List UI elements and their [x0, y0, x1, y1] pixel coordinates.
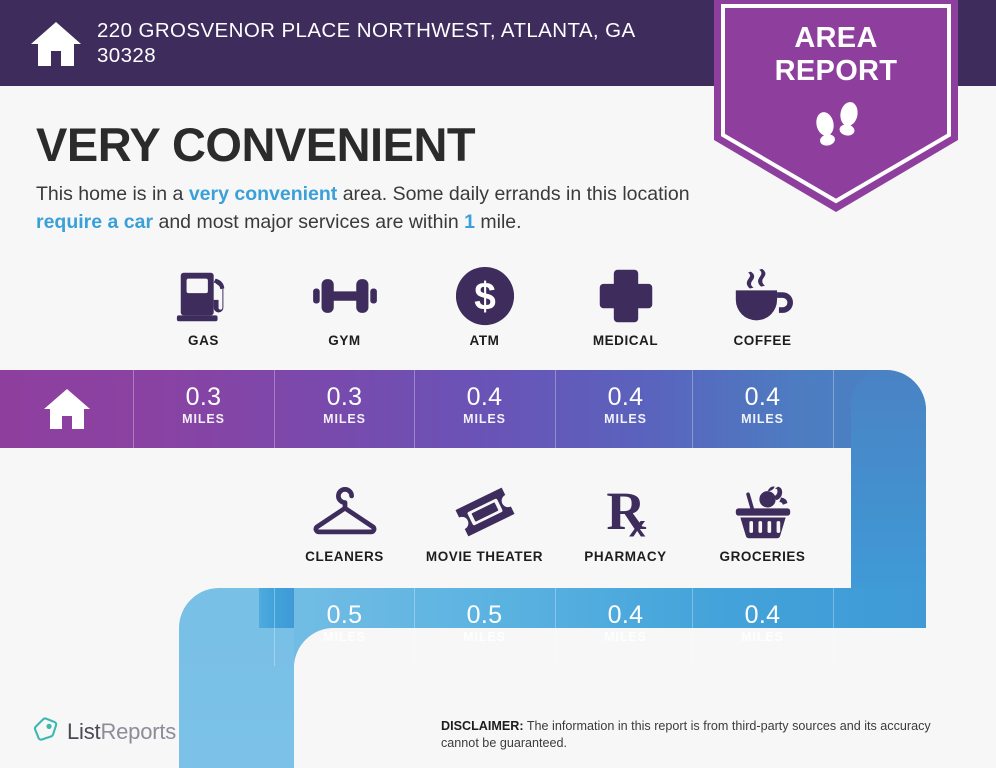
amenity-label: GAS: [133, 333, 274, 348]
logo-text-list: List: [67, 719, 100, 744]
amenity-coffee: COFFEE: [692, 262, 833, 362]
distance-cell-groceries: 0.4 MILES: [692, 588, 833, 666]
listreports-logo[interactable]: ListReports: [33, 716, 176, 747]
disclaimer-label: DISCLAIMER:: [441, 719, 524, 733]
cell-divider: [833, 588, 834, 666]
desc-highlight-2: require a car: [36, 211, 153, 233]
grocery-basket-icon: [692, 478, 833, 546]
badge-title-line2: REPORT: [714, 55, 958, 88]
clothes-hanger-icon: [274, 478, 415, 546]
distance-unit: MILES: [692, 412, 833, 426]
amenity-groceries: GROCERIES: [692, 478, 833, 578]
desc-part3: and most major services are within: [153, 211, 464, 233]
desc-highlight-3: 1: [464, 211, 475, 233]
distance-cell-coffee: 0.4 MILES: [692, 370, 833, 448]
listreports-pin-icon: [33, 716, 59, 747]
badge-title-line1: AREA: [714, 22, 958, 55]
amenity-label: COFFEE: [692, 333, 833, 348]
amenity-atm: $ ATM: [414, 262, 555, 362]
distance-unit: MILES: [414, 630, 555, 644]
distance-value: 0.4: [555, 370, 696, 412]
desc-part2: area. Some daily errands in this locatio…: [337, 183, 689, 205]
desc-highlight-1: very convenient: [189, 183, 337, 205]
distance-value: 0.3: [274, 370, 415, 412]
distance-value: 0.5: [414, 588, 555, 630]
distance-unit: MILES: [555, 630, 696, 644]
desc-part1: This home is in a: [36, 183, 189, 205]
distance-value: 0.4: [692, 370, 833, 412]
area-report-infographic: 220 GROSVENOR PLACE NORTHWEST, ATLANTA, …: [0, 0, 996, 768]
area-report-badge: AREA REPORT: [714, 0, 958, 212]
page-title: VERY CONVENIENT: [36, 117, 475, 172]
desc-part4: mile.: [475, 211, 522, 233]
distance-cell-movie-theater: 0.5 MILES: [414, 588, 555, 666]
amenity-pharmacy: R x PHARMACY: [555, 478, 696, 578]
property-address: 220 GROSVENOR PLACE NORTHWEST, ATLANTA, …: [97, 18, 657, 68]
amenity-icon-row-2: CLEANERS MOVIE THEATER R x: [0, 478, 996, 578]
amenity-label: MOVIE THEATER: [414, 549, 555, 564]
distance-bar-row-2: 0.5 MILES 0.5 MILES 0.4 MILES 0.4 MILES: [0, 588, 996, 666]
description-text: This home is in a very convenient area. …: [36, 180, 708, 236]
distance-value: 0.4: [555, 588, 696, 630]
amenity-cleaners: CLEANERS: [274, 478, 415, 578]
movie-ticket-icon: [414, 478, 555, 546]
distance-cell-gas: 0.3 MILES: [133, 370, 274, 448]
amenity-label: GROCERIES: [692, 549, 833, 564]
amenity-gas: GAS: [133, 262, 274, 362]
logo-text-reports: Reports: [100, 719, 176, 744]
amenity-label: GYM: [274, 333, 415, 348]
gas-pump-icon: [133, 262, 274, 330]
disclaimer: DISCLAIMER: The information in this repo…: [441, 718, 971, 752]
distance-value: 0.4: [414, 370, 555, 412]
distance-cell-atm: 0.4 MILES: [414, 370, 555, 448]
distance-unit: MILES: [274, 630, 415, 644]
amenity-label: CLEANERS: [274, 549, 415, 564]
distance-cell-gym: 0.3 MILES: [274, 370, 415, 448]
medical-cross-icon: [555, 262, 696, 330]
distance-unit: MILES: [133, 412, 274, 426]
svg-text:$: $: [474, 276, 496, 319]
amenity-label: ATM: [414, 333, 555, 348]
distance-bar-row-1: 0.3 MILES 0.3 MILES 0.4 MILES 0.4 MILES …: [0, 370, 996, 448]
badge-title: AREA REPORT: [714, 22, 958, 88]
listreports-wordmark: ListReports: [67, 719, 176, 745]
distance-value: 0.3: [133, 370, 274, 412]
coffee-cup-icon: [692, 262, 833, 330]
dumbbell-icon: [274, 262, 415, 330]
svg-text:x: x: [628, 510, 645, 542]
amenity-medical: MEDICAL: [555, 262, 696, 362]
distance-cell-cleaners: 0.5 MILES: [274, 588, 415, 666]
distance-unit: MILES: [414, 412, 555, 426]
amenity-gym: GYM: [274, 262, 415, 362]
distance-cell-medical: 0.4 MILES: [555, 370, 696, 448]
cell-divider: [833, 370, 834, 448]
home-icon: [30, 20, 82, 68]
distance-cell-pharmacy: 0.4 MILES: [555, 588, 696, 666]
rx-icon: R x: [555, 478, 696, 546]
footprints-icon: [810, 98, 866, 152]
distance-unit: MILES: [274, 412, 415, 426]
dollar-circle-icon: $: [414, 262, 555, 330]
distance-unit: MILES: [555, 412, 696, 426]
home-icon: [0, 370, 133, 448]
amenity-label: MEDICAL: [555, 333, 696, 348]
amenity-movie-theater: MOVIE THEATER: [414, 478, 555, 578]
amenity-icon-row-1: GAS GYM $: [0, 262, 996, 362]
distance-unit: MILES: [692, 630, 833, 644]
distance-value: 0.5: [274, 588, 415, 630]
amenity-label: PHARMACY: [555, 549, 696, 564]
distance-value: 0.4: [692, 588, 833, 630]
